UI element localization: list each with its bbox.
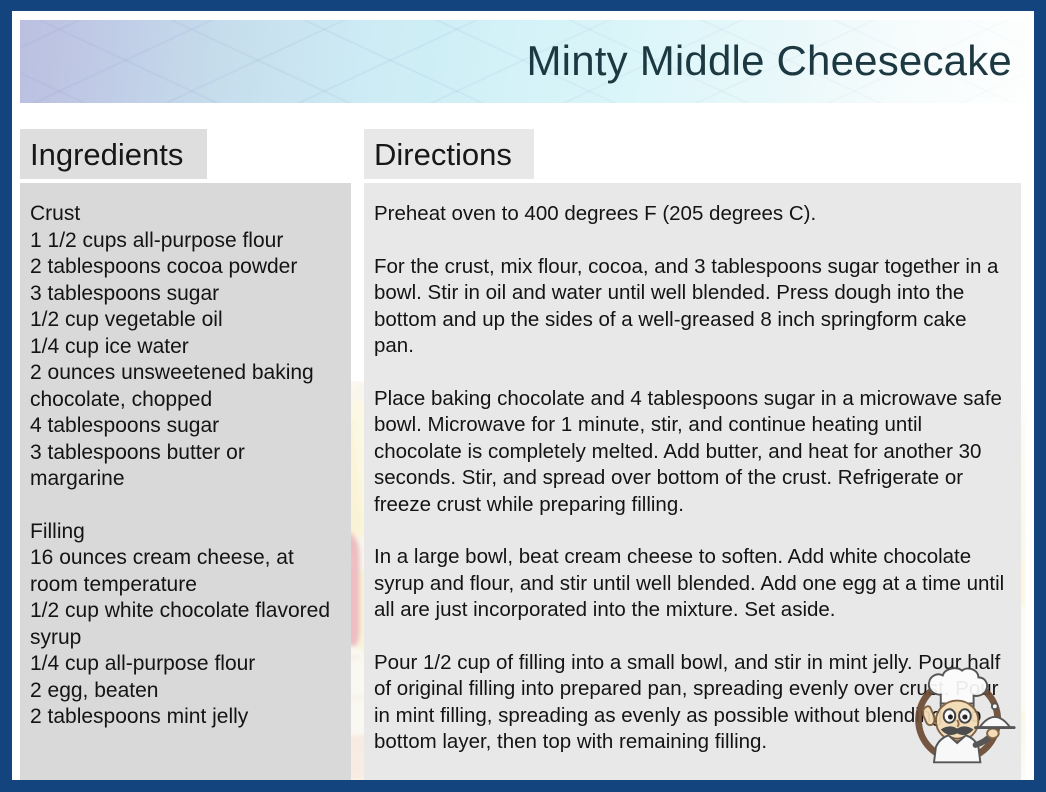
list-item: 2 tablespoons cocoa powder [30,254,339,281]
ingredients-list: Crust 1 1/2 cups all-purpose flour 2 tab… [30,201,339,731]
direction-step: Preheat oven to 400 degrees F (205 degre… [374,201,1009,228]
direction-step: In a large bowl, beat cream cheese to so… [374,544,1009,624]
recipe-card-page: Minty Middle Cheesecake [0,0,1046,792]
list-item: 1/2 cup white chocolate flavored syrup [30,598,339,651]
list-item: 2 egg, beaten [30,678,339,705]
list-item: 2 tablespoons mint jelly [30,704,339,731]
ingredients-header-tab: Ingredients [20,129,207,179]
list-item: 3 tablespoons sugar [30,281,339,308]
directions-header-tab: Directions [364,129,534,179]
ingredient-group-name: Crust [30,201,339,228]
direction-step: For the crust, mix flour, cocoa, and 3 t… [374,254,1009,360]
list-item: 1/2 cup vegetable oil [30,307,339,334]
list-item: 2 ounces unsweetened baking chocolate, c… [30,360,339,413]
list-item: 1/4 cup ice water [30,334,339,361]
list-item: 1/4 cup all-purpose flour [30,651,339,678]
header-banner: Minty Middle Cheesecake [20,20,1026,103]
list-item: 16 ounces cream cheese, at room temperat… [30,545,339,598]
list-item: 3 tablespoons butter or margarine [30,440,339,493]
list-item: 1 1/2 cups all-purpose flour [30,228,339,255]
ingredient-group-name: Filling [30,519,339,546]
ingredients-heading: Ingredients [30,139,183,170]
direction-step: Place baking chocolate and 4 tablespoons… [374,386,1009,519]
list-item: 4 tablespoons sugar [30,413,339,440]
directions-heading: Directions [374,139,512,170]
chef-mascot-logo [904,660,1020,772]
recipe-card-canvas: Minty Middle Cheesecake [12,11,1034,780]
ingredients-panel: Crust 1 1/2 cups all-purpose flour 2 tab… [20,183,351,780]
page-title: Minty Middle Cheesecake [527,37,1013,85]
group-spacer [30,493,339,519]
